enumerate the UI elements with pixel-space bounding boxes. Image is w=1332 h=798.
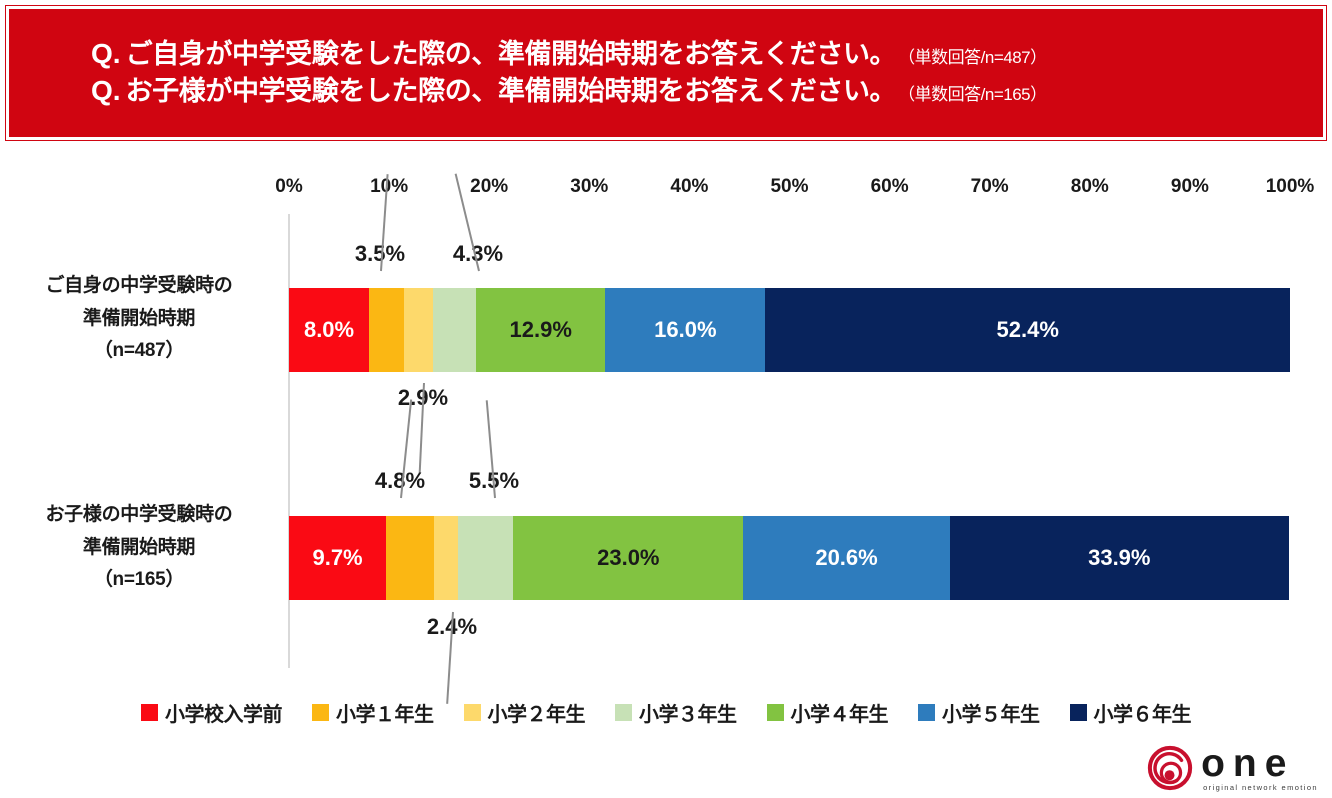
logo-wordmark: one xyxy=(1201,745,1294,782)
bar-segment-row-1-5: 20.6% xyxy=(743,516,949,600)
x-axis-tick-100: 100% xyxy=(1266,176,1315,198)
bar-value-label-row-1-0: 9.7% xyxy=(312,545,362,571)
bar-segment-row-1-0: 9.7% xyxy=(289,516,386,600)
question-note-1: （単数回答/n=487） xyxy=(898,47,1046,69)
bar-segment-row-0-1 xyxy=(369,288,404,372)
brand-logo: one original network emotion xyxy=(1147,745,1318,792)
legend-label-4: 小学４年生 xyxy=(791,698,889,727)
category-label-row-1-line3: （n=165） xyxy=(0,564,278,597)
bar-value-label-row-0-0: 8.0% xyxy=(304,317,354,343)
bar-segment-row-1-6: 33.9% xyxy=(950,516,1289,600)
bar-value-label-row-0-5: 16.0% xyxy=(654,317,716,343)
x-axis-tick-30: 30% xyxy=(570,176,608,198)
bar-value-label-row-0-6: 52.4% xyxy=(997,317,1059,343)
x-axis-tick-70: 70% xyxy=(971,176,1009,198)
question-prefix-2: Q. xyxy=(91,73,121,110)
question-text-2: お子様が中学受験をした際の、準備開始時期をお答えください。 xyxy=(126,74,897,110)
bar-segment-row-1-1 xyxy=(386,516,434,600)
legend-swatch-icon-2 xyxy=(464,704,481,721)
category-label-row-0-line3: （n=487） xyxy=(0,335,278,368)
bar-value-label-row-0-4: 12.9% xyxy=(510,317,572,343)
legend-swatch-icon-4 xyxy=(767,704,784,721)
legend-item-4[interactable]: 小学４年生 xyxy=(767,698,889,727)
one-spiral-icon xyxy=(1147,745,1193,791)
stacked-bar-row-0: 8.0%12.9%16.0%52.4% xyxy=(289,288,1290,372)
x-axis-tick-90: 90% xyxy=(1171,176,1209,198)
question-text-1: ご自身が中学受験をした際の、準備開始時期をお答えください。 xyxy=(126,37,897,73)
legend-label-3: 小学３年生 xyxy=(639,698,737,727)
logo-tagline: original network emotion xyxy=(1203,783,1318,792)
legend-item-5[interactable]: 小学５年生 xyxy=(918,698,1040,727)
x-axis-tick-10: 10% xyxy=(370,176,408,198)
question-line-1: Q. ご自身が中学受験をした際の、準備開始時期をお答えください。 （単数回答/n… xyxy=(91,36,1323,73)
legend-item-6[interactable]: 小学６年生 xyxy=(1070,698,1192,727)
legend-label-1: 小学１年生 xyxy=(336,698,434,727)
logo-text-block: one original network emotion xyxy=(1201,745,1318,792)
stacked-bar-row-1: 9.7%23.0%20.6%33.9% xyxy=(289,516,1289,600)
legend-swatch-icon-0 xyxy=(141,704,158,721)
category-label-row-0-line2: 準備開始時期 xyxy=(0,303,278,336)
legend-item-3[interactable]: 小学３年生 xyxy=(615,698,737,727)
question-note-2: （単数回答/n=165） xyxy=(898,84,1046,106)
x-axis-tick-40: 40% xyxy=(670,176,708,198)
question-line-2: Q. お子様が中学受験をした際の、準備開始時期をお答えください。 （単数回答/n… xyxy=(91,73,1323,110)
legend-item-2[interactable]: 小学２年生 xyxy=(464,698,586,727)
chart-legend: 小学校入学前小学１年生小学２年生小学３年生小学４年生小学５年生小学６年生 xyxy=(0,698,1332,727)
bar-value-label-row-1-4: 23.0% xyxy=(597,545,659,571)
legend-label-5: 小学５年生 xyxy=(942,698,1040,727)
legend-item-0[interactable]: 小学校入学前 xyxy=(141,698,282,727)
category-label-row-0: ご自身の中学受験時の 準備開始時期 （n=487） xyxy=(0,270,278,368)
bar-segment-row-0-3 xyxy=(433,288,476,372)
bar-segment-row-0-0: 8.0% xyxy=(289,288,369,372)
bar-segment-row-0-2 xyxy=(404,288,433,372)
bar-segment-row-1-3 xyxy=(458,516,513,600)
legend-label-6: 小学６年生 xyxy=(1094,698,1192,727)
x-axis-tick-80: 80% xyxy=(1071,176,1109,198)
bar-segment-row-0-5: 16.0% xyxy=(605,288,765,372)
legend-label-0: 小学校入学前 xyxy=(165,698,282,727)
question-prefix-1: Q. xyxy=(91,36,121,73)
legend-swatch-icon-1 xyxy=(312,704,329,721)
legend-swatch-icon-3 xyxy=(615,704,632,721)
category-label-row-0-line1: ご自身の中学受験時の xyxy=(0,270,278,303)
bar-value-label-row-1-5: 20.6% xyxy=(815,545,877,571)
x-axis-tick-0: 0% xyxy=(275,176,302,198)
legend-item-1[interactable]: 小学１年生 xyxy=(312,698,434,727)
chart-page: Q. ご自身が中学受験をした際の、準備開始時期をお答えください。 （単数回答/n… xyxy=(0,0,1332,798)
bar-value-label-row-1-6: 33.9% xyxy=(1088,545,1150,571)
category-label-row-1-line2: 準備開始時期 xyxy=(0,532,278,565)
x-axis-tick-labels: 0%10%20%30%40%50%60%70%80%90%100% xyxy=(0,176,1332,202)
bar-segment-row-1-4: 23.0% xyxy=(513,516,743,600)
bar-segment-row-1-2 xyxy=(434,516,458,600)
legend-swatch-icon-6 xyxy=(1070,704,1087,721)
legend-swatch-icon-5 xyxy=(918,704,935,721)
x-axis-tick-50: 50% xyxy=(770,176,808,198)
bar-segment-row-0-6: 52.4% xyxy=(765,288,1290,372)
category-label-row-1: お子様の中学受験時の 準備開始時期 （n=165） xyxy=(0,499,278,597)
legend-label-2: 小学２年生 xyxy=(488,698,586,727)
category-label-row-1-line1: お子様の中学受験時の xyxy=(0,499,278,532)
x-axis-tick-60: 60% xyxy=(871,176,909,198)
question-banner: Q. ご自身が中学受験をした際の、準備開始時期をお答えください。 （単数回答/n… xyxy=(6,6,1326,140)
bar-segment-row-0-4: 12.9% xyxy=(476,288,605,372)
x-axis-tick-20: 20% xyxy=(470,176,508,198)
